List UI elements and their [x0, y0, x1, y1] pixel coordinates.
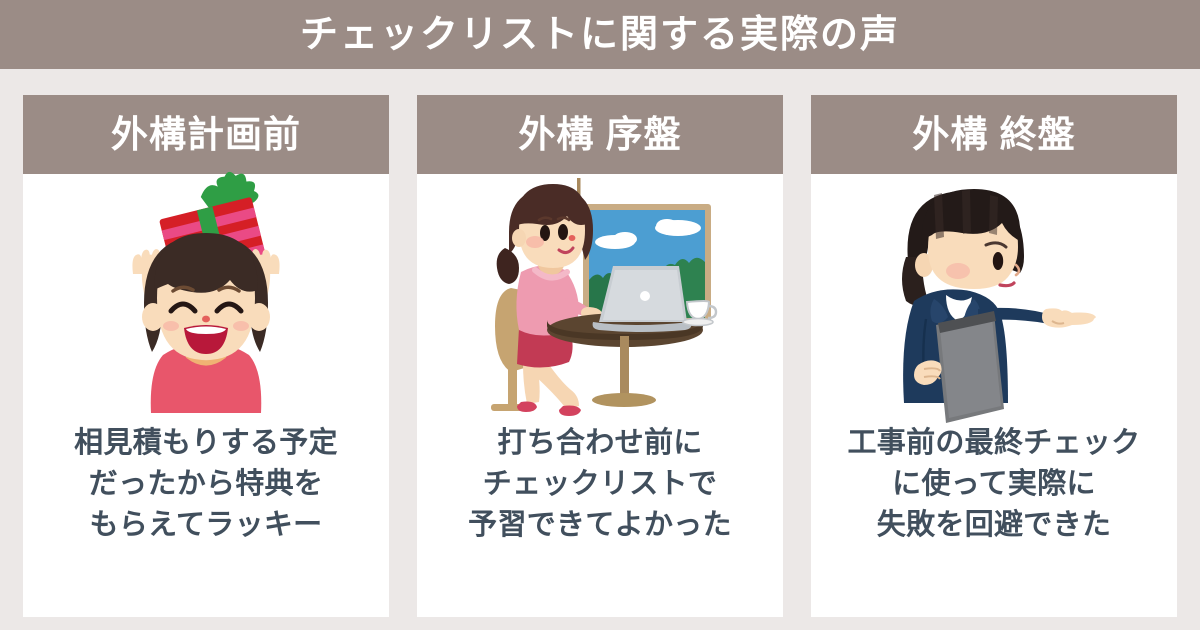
caption-line: に使って実際に: [819, 464, 1169, 505]
illustration-woman-using-laptop-at-cafe-table: [417, 174, 783, 417]
card-caption: 打ち合わせ前に チェックリストで 予習できてよかった: [417, 417, 783, 617]
caption-line: チェックリストで: [425, 464, 775, 505]
caption-line: 失敗を回避できた: [819, 505, 1169, 546]
caption-line: 相見積もりする予定: [31, 423, 381, 464]
illustration-girl-celebrating-with-gift-box: [23, 174, 389, 417]
businesswoman-pointing-illustration: [874, 183, 1114, 408]
card-final-stage: 外構 終盤: [811, 95, 1177, 617]
card-early-stage: 外構 序盤: [417, 95, 783, 617]
caption-line: 打ち合わせ前に: [425, 423, 775, 464]
cards-row: 外構計画前: [23, 95, 1177, 617]
caption-line: もらえてラッキー: [31, 505, 381, 546]
page-title: チェックリストに関する実際の声: [300, 16, 900, 54]
card-header: 外構計画前: [23, 95, 389, 174]
illustration-businesswoman-with-clipboard-pointing: [811, 174, 1177, 417]
caption-line: 工事前の最終チェック: [819, 423, 1169, 464]
card-header: 外構 終盤: [811, 95, 1177, 174]
card-header: 外構 序盤: [417, 95, 783, 174]
caption-line: 予習できてよかった: [425, 505, 775, 546]
poster: チェックリストに関する実際の声 外構計画前: [0, 0, 1200, 630]
card-caption: 工事前の最終チェック に使って実際に 失敗を回避できた: [811, 417, 1177, 617]
card-header-label: 外構 序盤: [518, 116, 681, 153]
clipboard: [936, 311, 1004, 423]
card-header-label: 外構計画前: [111, 116, 301, 153]
card-header-label: 外構 終盤: [912, 116, 1075, 153]
caption-line: だったから特典を: [31, 464, 381, 505]
girl-with-gift-illustration: [91, 178, 321, 413]
woman-at-laptop-illustration: [475, 176, 725, 416]
header-banner: チェックリストに関する実際の声: [0, 0, 1200, 69]
card-before-planning: 外構計画前: [23, 95, 389, 617]
card-caption: 相見積もりする予定 だったから特典を もらえてラッキー: [23, 417, 389, 617]
